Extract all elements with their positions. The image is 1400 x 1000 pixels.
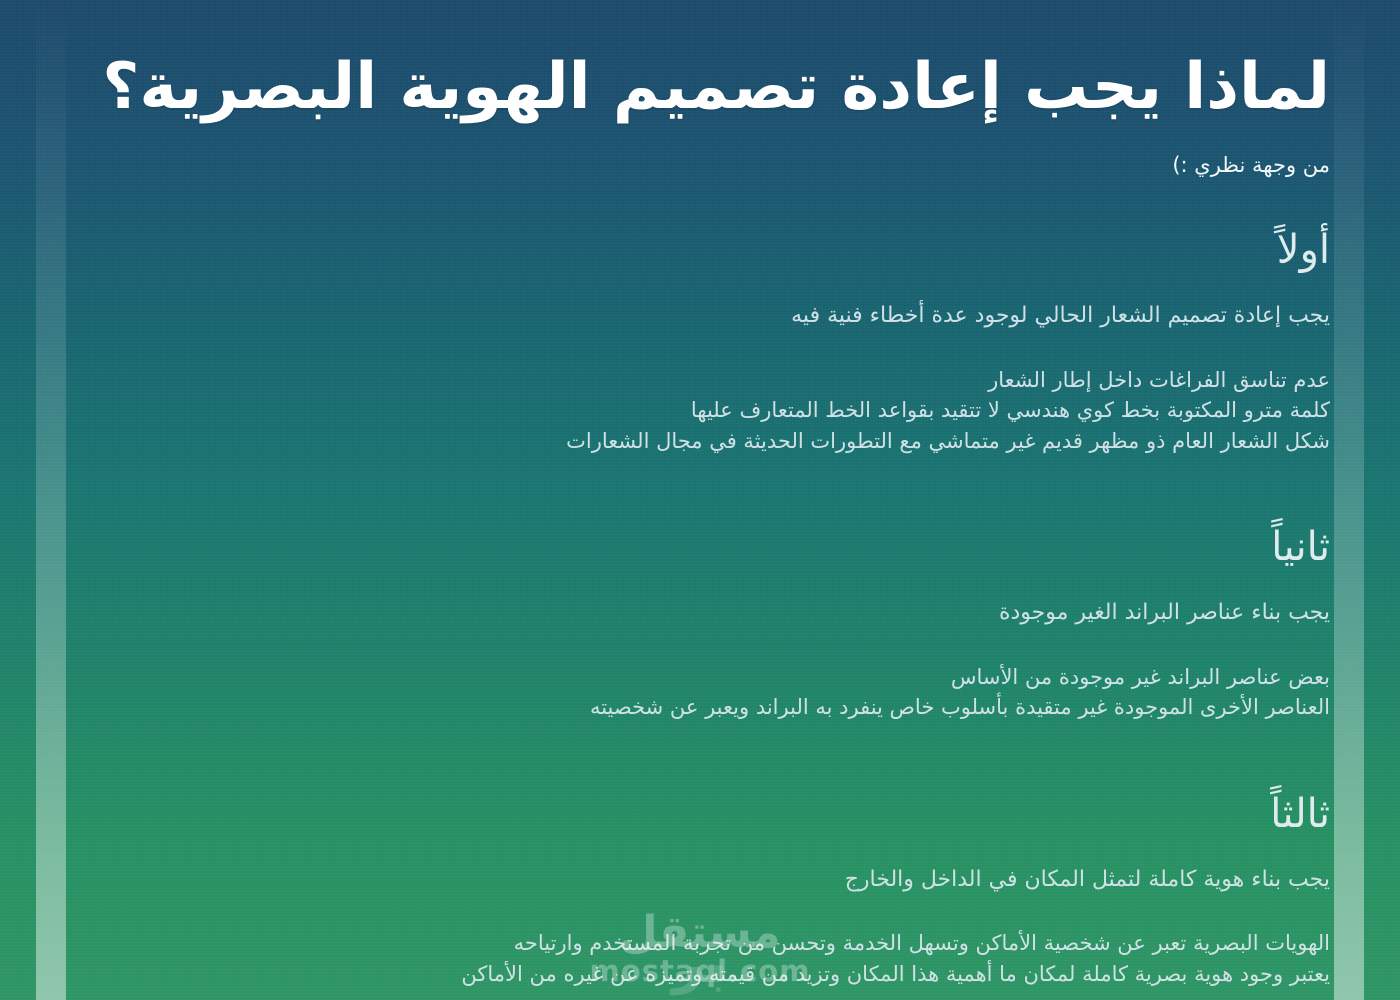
section-heading: يجب بناء عناصر البراند الغير موجودة [70,572,1330,628]
section-ordinal: ثانياً [70,522,1330,572]
section-point-list: بعض عناصر البراند غير موجودة من الأساس ا… [70,628,1330,723]
page-subtitle: من وجهة نظري :) [70,124,1330,179]
section-point-list: عدم تناسق الفراغات داخل إطار الشعار كلمة… [70,331,1330,456]
list-item: العناصر الأخرى الموجودة غير متقيدة بأسلو… [70,692,1330,722]
list-item: بعض عناصر البراند غير موجودة من الأساس [70,662,1330,692]
list-item: كلمة مترو المكتوبة بخط كوي هندسي لا تتقي… [70,395,1330,425]
section-third: ثالثاً يجب بناء هوية كاملة لتمثل المكان … [70,723,1330,990]
poster-content: لماذا يجب إعادة تصميم الهوية البصرية؟ من… [0,0,1400,1000]
list-item: شكل الشعار العام ذو مظهر قديم غير متماشي… [70,426,1330,456]
section-point-list: الهويات البصرية تعبر عن شخصية الأماكن وت… [70,894,1330,989]
section-first: أولاً يجب إعادة تصميم الشعار الحالي لوجو… [70,179,1330,456]
page-title: لماذا يجب إعادة تصميم الهوية البصرية؟ [70,0,1330,124]
section-ordinal: أولاً [70,225,1330,275]
section-second: ثانياً يجب بناء عناصر البراند الغير موجو… [70,456,1330,723]
poster-canvas: لماذا يجب إعادة تصميم الهوية البصرية؟ من… [0,0,1400,1000]
list-item: عدم تناسق الفراغات داخل إطار الشعار [70,365,1330,395]
section-heading: يجب بناء هوية كاملة لتمثل المكان في الدا… [70,839,1330,895]
section-ordinal: ثالثاً [70,789,1330,839]
list-item: الهويات البصرية تعبر عن شخصية الأماكن وت… [70,928,1330,958]
section-heading: يجب إعادة تصميم الشعار الحالي لوجود عدة … [70,275,1330,331]
list-item: يعتبر وجود هوية بصرية كاملة لمكان ما أهم… [70,959,1330,989]
